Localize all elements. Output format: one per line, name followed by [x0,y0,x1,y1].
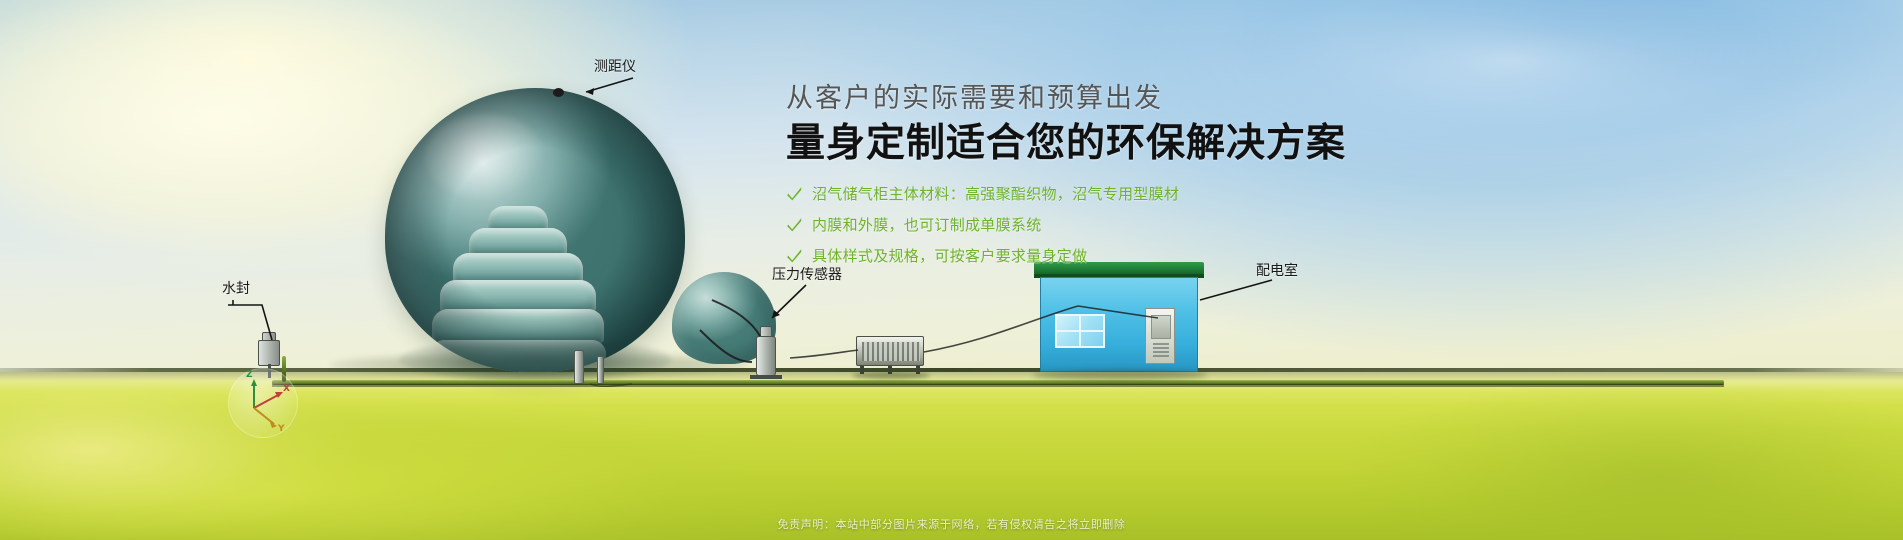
compressor-vents [862,342,920,361]
check-icon [786,216,803,233]
compressor-shadow [852,372,930,379]
house-door [1145,308,1175,364]
feature-bullet-item: 内膜和外膜，也可订制成单膜系统 [786,214,1426,235]
house-body [1040,277,1198,372]
hero-headline: 量身定制适合您的环保解决方案 [786,120,1426,168]
label-water-seal: 水封 [222,282,250,296]
dome-sphere [385,88,685,372]
pressure-sensor-assembly [742,318,790,380]
disclaimer-text: 免责声明：本站中部分图片来源于网络，若有侵权请告之将立即删除 [0,516,1903,532]
rangefinder-device-icon [553,88,564,97]
check-icon [786,185,803,202]
gas-holder-dome [385,88,685,372]
dome-rim-shadow [385,88,685,372]
water-seal-device [258,330,280,370]
hero-banner: 测距仪 水封 压力传感器 配电室 Z X Y 从客户的实际需要和预算出发 量身定… [0,0,1903,540]
feature-bullet-item: 沼气储气柜主体材料：高强聚酯织物，沼气专用型膜材 [786,183,1426,204]
axis-label-y: Y [278,424,285,434]
axis-gizmo-arrows [228,368,298,438]
house-shadow [1032,370,1208,380]
axis-label-x: X [283,384,290,394]
feature-bullet-item: 具体样式及规格，可按客户要求量身定做 [786,245,1426,266]
house-door-grille [1153,343,1169,357]
feature-bullet-text: 沼气储气柜主体材料：高强聚酯织物，沼气专用型膜材 [812,183,1179,204]
feature-bullet-list: 沼气储气柜主体材料：高强聚酯织物，沼气专用型膜材 内膜和外膜，也可订制成单膜系统… [786,183,1426,266]
axis-gizmo: Z X Y [228,368,298,438]
hero-subheadline: 从客户的实际需要和预算出发 [786,82,1426,116]
house-door-panel [1151,315,1171,339]
water-seal-body [258,340,280,366]
vertical-riser-pipe-1 [574,350,584,384]
axis-label-z: Z [246,370,253,380]
power-distribution-room [1040,262,1198,372]
main-pipeline-shadow [272,384,1724,387]
compressor-housing [856,336,924,366]
dome-base-shadow [399,338,671,382]
feature-bullet-text: 具体样式及规格，可按客户要求量身定做 [812,245,1087,266]
house-window [1055,314,1105,348]
check-icon [786,247,803,264]
vertical-riser-pipe-2 [597,356,604,384]
pressure-sensor-base [750,375,782,379]
pressure-sensor-tank [756,336,776,376]
label-rangefinder: 测距仪 [594,60,636,74]
hero-text-block: 从客户的实际需要和预算出发 量身定制适合您的环保解决方案 沼气储气柜主体材料：高… [786,82,1426,276]
compressor-skid [856,336,924,374]
feature-bullet-text: 内膜和外膜，也可订制成单膜系统 [812,214,1042,235]
